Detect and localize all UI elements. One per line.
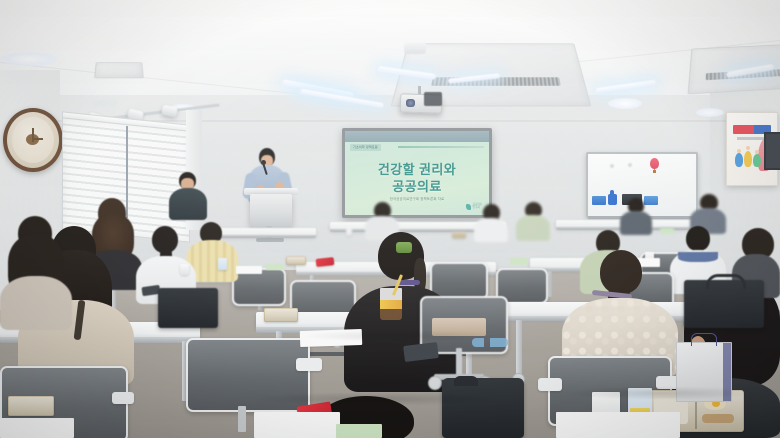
chair-arm <box>538 378 562 391</box>
poster-figure-head <box>755 150 759 154</box>
slide-subtitle: 한국공공의료연구회 정책토론회 자료 <box>345 196 489 201</box>
table-edge <box>206 235 316 238</box>
slide-header-band <box>345 131 489 142</box>
slide-logo: 공공의료 연구회 <box>466 204 482 210</box>
bento-box <box>286 256 306 265</box>
projection-screen-frame: 기초의학 정책포럼 건강할 권리와 공공의료 한국공공의료연구회 정책토론회 자… <box>342 128 492 218</box>
handout-green <box>510 258 528 265</box>
paper-cup <box>346 228 352 236</box>
projection-screen: 기초의학 정책포럼 건강할 권리와 공공의료 한국공공의료연구회 정책토론회 자… <box>345 131 489 215</box>
seminar-room-photo: 기초의학 정책포럼 건강할 권리와 공공의료 한국공공의료연구회 정책토론회 자… <box>0 0 780 438</box>
backpack-rear <box>158 288 218 328</box>
bento-box <box>452 232 466 238</box>
projector-lens <box>406 99 415 107</box>
bento-box-left <box>8 396 54 416</box>
logo-text-line2: 연구회 <box>472 207 482 210</box>
gift-bag-handle <box>691 333 717 346</box>
backpack-strap <box>454 376 478 386</box>
attendee-torso <box>516 215 550 241</box>
handout-white <box>254 412 340 438</box>
projector-cables <box>424 92 442 106</box>
slide-title-line2: 공공의료 <box>345 176 489 195</box>
clock-hand-hour <box>33 138 43 140</box>
whiteboard-label <box>592 196 606 205</box>
poster-figure-head <box>746 146 750 150</box>
poster-figure <box>744 151 752 167</box>
blind-cord <box>126 126 128 218</box>
seated-staff-torso <box>169 188 207 220</box>
ac-vent <box>94 62 144 78</box>
chair-caster <box>428 376 442 390</box>
slide-tab-label: 기초의학 정책포럼 <box>350 144 381 151</box>
juice-carton <box>218 258 227 270</box>
handout-green <box>336 424 382 438</box>
slide-logo-text: 공공의료 연구회 <box>472 204 482 210</box>
hair-clip-green <box>396 242 412 253</box>
ceiling-downlight <box>608 98 642 109</box>
logo-mark-icon <box>466 204 471 210</box>
bento-food-roll <box>702 414 734 423</box>
whiteboard-magnet <box>610 164 614 168</box>
ceiling-downlight <box>0 52 58 66</box>
sailor-collar <box>678 252 718 262</box>
backpack-floor <box>442 378 524 438</box>
chair-arm <box>112 392 134 404</box>
floor-shadow <box>250 392 500 406</box>
ceiling-speaker <box>404 42 426 54</box>
poster-figure-head <box>737 149 741 153</box>
handout-white <box>0 418 74 438</box>
poster-figure <box>753 154 761 167</box>
microphone-head <box>261 160 266 165</box>
wall-frame <box>764 132 780 170</box>
drink-label <box>380 300 402 309</box>
lanyard <box>398 280 420 285</box>
slide-divider <box>398 146 484 148</box>
whiteboard-magnet <box>628 163 632 167</box>
ceiling-downlight <box>696 108 724 117</box>
table-leg <box>548 271 552 297</box>
poster-figure <box>735 153 743 167</box>
attendee-torso <box>474 218 508 242</box>
thumbs-up-thumb-icon <box>610 190 614 196</box>
handout-white <box>556 412 680 438</box>
backpack-handle <box>706 274 746 289</box>
balloon-body-icon <box>650 158 659 169</box>
handout-green <box>660 228 674 234</box>
chair-arm <box>296 358 322 371</box>
light-track-mount <box>92 100 118 107</box>
paper-cup <box>180 264 189 275</box>
wall-clock <box>3 108 63 172</box>
whiteboard-label <box>644 196 658 205</box>
attendee-torso-second <box>0 276 72 330</box>
attendee-torso <box>620 211 652 235</box>
handout-white <box>236 266 262 274</box>
chair-post <box>456 348 462 376</box>
handout-green <box>266 264 284 270</box>
balloon-basket-icon <box>653 170 656 173</box>
chair-post <box>238 406 246 432</box>
floor-shadow <box>560 386 760 400</box>
hot-air-balloon-sticker <box>650 158 659 169</box>
bento-box <box>264 308 298 322</box>
podium-base <box>256 238 284 242</box>
floor-shadow <box>300 330 500 342</box>
podium <box>250 194 292 228</box>
table-leg <box>516 320 522 376</box>
